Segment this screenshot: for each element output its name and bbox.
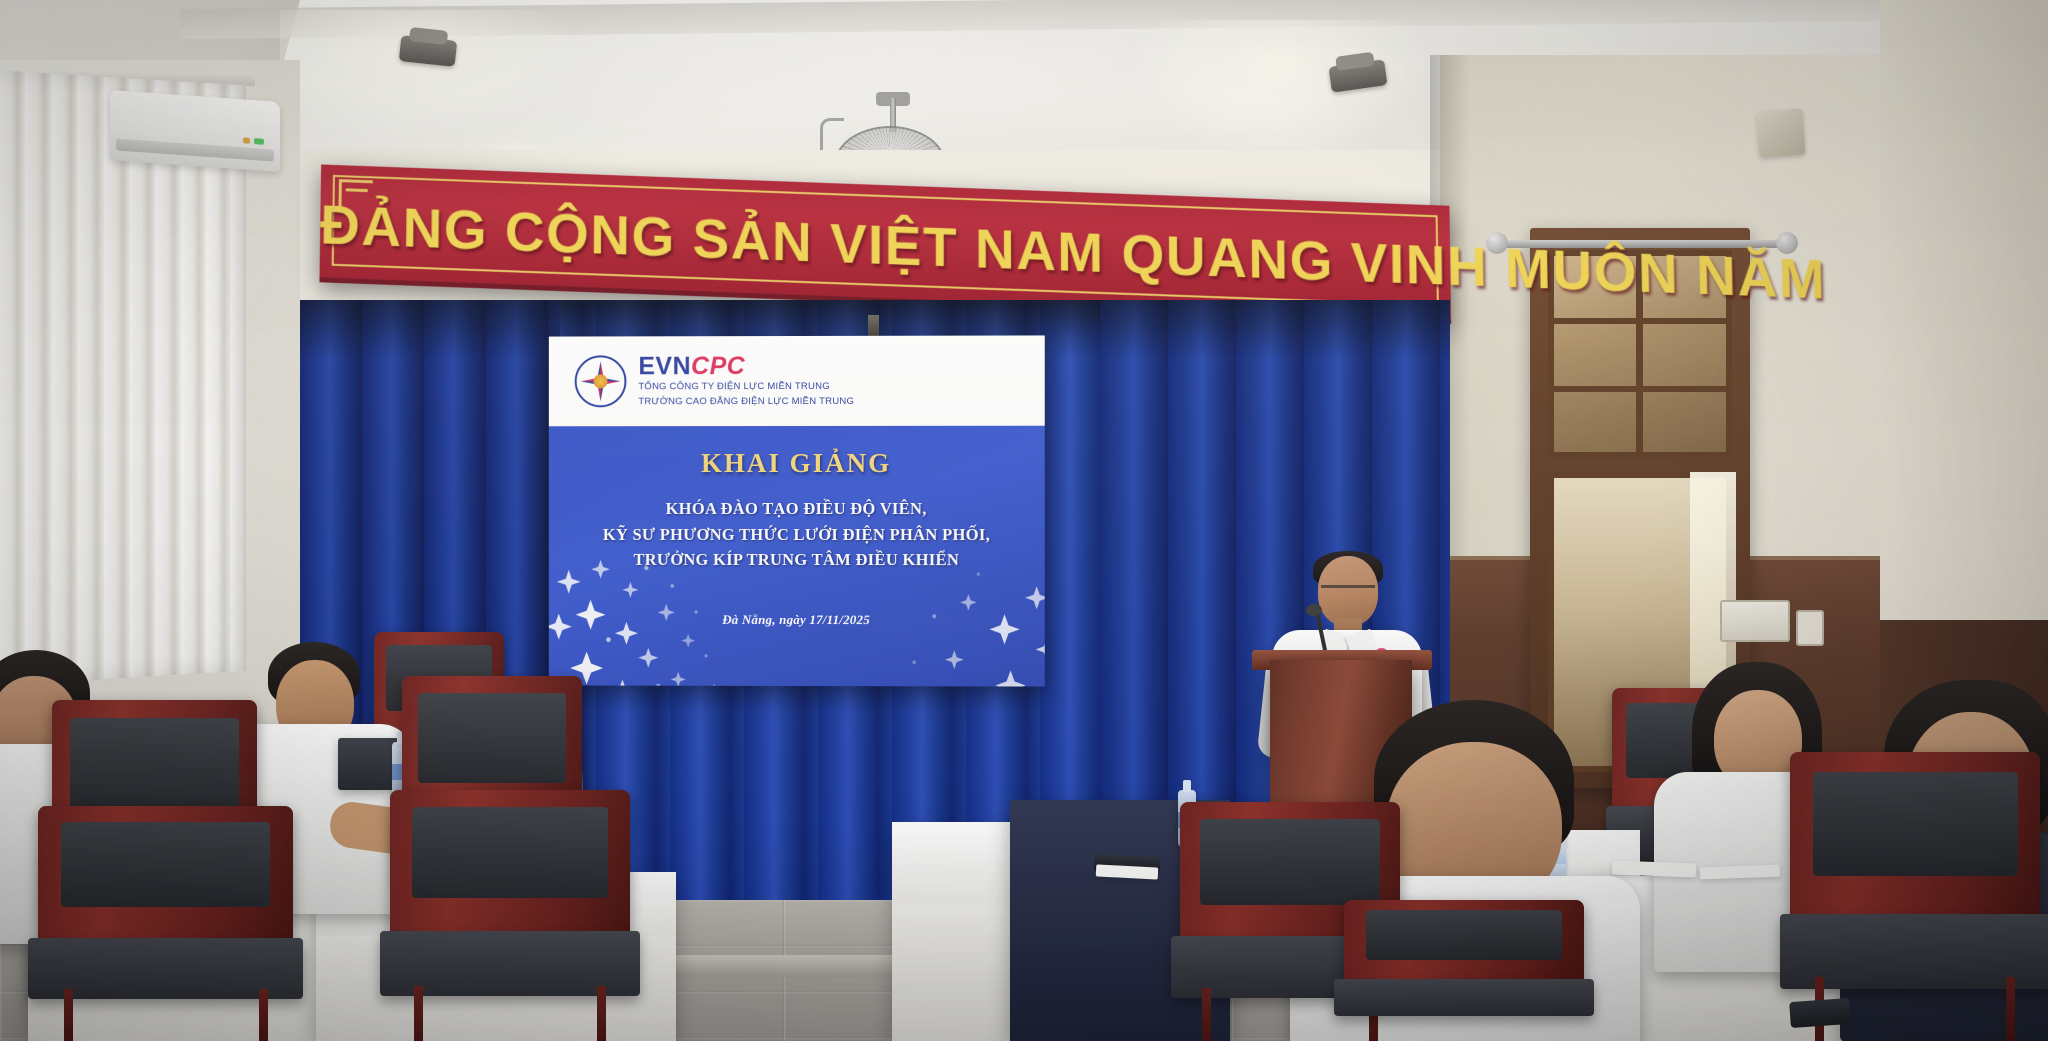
chair-seat [1334,979,1593,1016]
slide-body: KHAI GIẢNG KHÓA ĐÀO TẠO ĐIỀU ĐỘ VIÊN, KỸ… [549,426,1045,687]
wall-mounted-panel [1756,108,1805,157]
projection-screen: EVNCPC TỔNG CÔNG TY ĐIỆN LỰC MIỀN TRUNG … [549,335,1045,686]
chair-leg [64,989,73,1041]
chair-backrest [1790,752,2040,920]
chair-cushion [418,693,566,783]
wall-switch-plate[interactable] [1796,610,1824,646]
paper-document [1612,861,1696,878]
air-conditioner-vent [116,138,274,161]
chair-cushion [70,718,238,811]
evncpc-wordmark: EVNCPC [638,354,854,379]
air-conditioner-led-amber [243,137,250,143]
conference-room-scene: ĐẢNG CỘNG SẢN VIỆT NAM QUANG VINH MUÔN N… [0,0,2048,1041]
chair-leg [1202,988,1211,1041]
chair-cushion [1200,819,1380,905]
slide-title: KHAI GIẢNG [549,448,1045,479]
ceiling-light-glow-right [1130,20,1430,160]
slide-logo-texts: EVNCPC TỔNG CÔNG TY ĐIỆN LỰC MIỀN TRUNG … [638,354,854,409]
evn-star-logo-icon [575,355,627,407]
wall-control-box[interactable] [1720,600,1790,642]
chair-backrest [390,790,630,936]
slide-line-2: KỸ SƯ PHƯƠNG THỨC LƯỚI ĐIỆN PHÂN PHỐI, [549,522,1045,548]
chair-cushion [412,807,609,897]
door-mullion-horizontal-2 [1548,386,1732,392]
chair-cushion [61,822,270,907]
chair[interactable] [38,806,293,1041]
organization-line-1: TỔNG CÔNG TY ĐIỆN LỰC MIỀN TRUNG [638,381,854,394]
slide-header: EVNCPC TỔNG CÔNG TY ĐIỆN LỰC MIỀN TRUNG … [549,335,1045,426]
smartphone-icon[interactable] [1789,998,1851,1028]
chair-leg [259,989,268,1041]
wordmark-cpc: CPC [691,352,745,380]
chair-backrest [1344,900,1584,982]
slide-body-lines: KHÓA ĐÀO TẠO ĐIỀU ĐỘ VIÊN, KỸ SƯ PHƯƠNG … [549,496,1045,573]
chair-cushion [1813,772,2018,876]
slide-line-1: KHÓA ĐÀO TẠO ĐIỀU ĐỘ VIÊN, [549,496,1045,522]
chair-leg [597,986,606,1041]
door-mullion-horizontal-1 [1548,318,1732,324]
chair-leg [414,986,423,1041]
chair-backrest [38,806,293,942]
organization-line-2: TRƯỜNG CAO ĐẲNG ĐIỆN LỰC MIỀN TRUNG [638,395,854,408]
chair[interactable] [390,790,630,1041]
air-conditioner-icon [110,90,280,172]
microphone-icon [1306,604,1322,616]
air-conditioner-led-green [254,138,264,145]
wordmark-evn: EVN [638,352,691,380]
slide-line-3: TRƯỞNG KÍP TRUNG TÂM ĐIỀU KHIỂN [549,547,1045,573]
chair[interactable] [1790,752,2040,1041]
speaker-glasses-icon [1321,585,1375,597]
chair-leg [2006,977,2015,1041]
chair-cushion [1366,910,1563,961]
chair[interactable] [1344,900,1584,1041]
slide-date-line: Đà Nẵng, ngày 17/11/2025 [549,612,1045,629]
